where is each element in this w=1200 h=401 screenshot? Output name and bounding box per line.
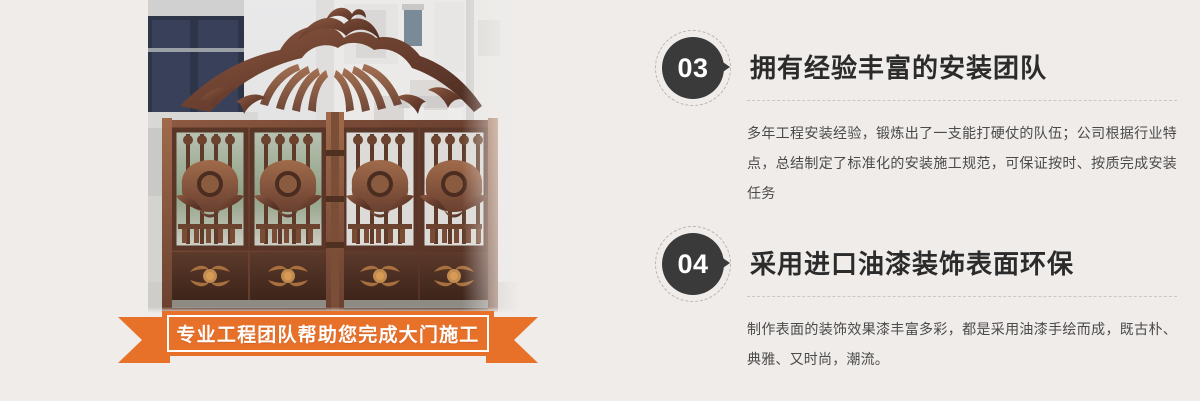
badge-number-text: 04 [662,233,724,295]
feature-list: 03 拥有经验丰富的安装团队 多年工程安装经验，锻炼出了一支能打硬仗的队伍；公司… [655,0,1200,401]
feature-heading: 采用进口油漆装饰表面环保 [750,244,1074,281]
feature-divider [747,296,1177,297]
feature-heading: 拥有经验丰富的安装团队 [750,48,1047,85]
promo-banner: 专业工程团队帮助您完成大门施工 03 拥有经验丰富的安装团队 多年工程安装经验，… [0,0,1200,401]
caption-ribbon: 专业工程团队帮助您完成大门施工 [118,311,538,371]
gate-photo [148,0,520,313]
badge-number-04: 04 [655,226,733,304]
feature-body-text: 多年工程安装经验，锻炼出了一支能打硬仗的队伍；公司根据行业特点，总结制定了标准化… [747,118,1177,208]
gate-photo-illustration [148,0,520,313]
badge-number-03: 03 [655,30,733,108]
feature-body-text: 制作表面的装饰效果漆丰富多彩，都是采用油漆手绘而成，既古朴、典雅、又时尚，潮流。 [747,314,1177,374]
badge-number-text: 03 [662,37,724,99]
feature-divider [747,100,1177,101]
ribbon-caption-text: 专业工程团队帮助您完成大门施工 [118,311,538,355]
